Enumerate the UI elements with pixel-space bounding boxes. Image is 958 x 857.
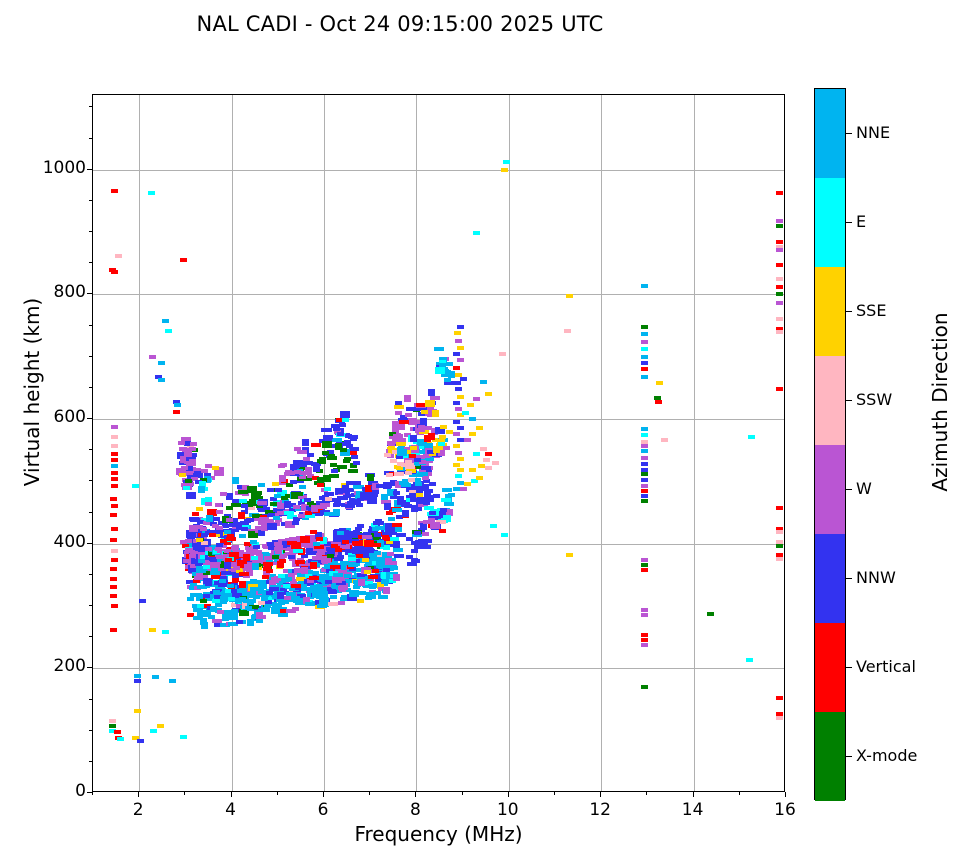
scatter-point <box>641 568 648 572</box>
scatter-point <box>457 457 464 461</box>
scatter-point <box>182 448 192 452</box>
scatter-point <box>157 724 164 728</box>
scatter-point <box>215 503 222 507</box>
scatter-point <box>503 160 510 164</box>
scatter-point <box>471 479 478 483</box>
scatter-point <box>183 486 190 490</box>
scatter-point <box>293 505 300 509</box>
scatter-point <box>110 513 117 517</box>
scatter-point <box>776 240 783 244</box>
scatter-point <box>327 554 334 558</box>
scatter-point <box>387 552 394 556</box>
scatter-point <box>339 423 346 427</box>
scatter-point <box>316 537 323 541</box>
plot-area <box>92 94 785 792</box>
scatter-point <box>228 597 235 601</box>
scatter-point <box>196 538 203 542</box>
scatter-point <box>117 737 124 741</box>
scatter-point <box>249 599 256 603</box>
scatter-point <box>205 547 212 551</box>
scatter-point <box>473 231 480 235</box>
scatter-point <box>776 219 783 223</box>
colorbar-tick <box>846 311 852 312</box>
scatter-point <box>641 444 648 448</box>
scatter-point <box>429 482 436 486</box>
scatter-point <box>485 466 492 470</box>
colorbar-tick <box>846 667 852 668</box>
x-tick-label: 14 <box>663 800 723 820</box>
scatter-point <box>321 428 328 432</box>
y-tick-label: 0 <box>26 781 86 801</box>
scatter-point <box>252 491 262 495</box>
scatter-point <box>178 441 185 445</box>
scatter-point <box>393 548 403 552</box>
scatter-point <box>267 488 274 492</box>
scatter-point <box>381 580 388 584</box>
scatter-point <box>206 515 213 522</box>
scatter-point <box>377 521 384 525</box>
scatter-point <box>134 709 141 713</box>
scatter-point <box>322 441 332 448</box>
scatter-point <box>291 492 298 499</box>
scatter-point <box>453 401 460 405</box>
scatter-point <box>501 168 508 172</box>
scatter-point <box>330 595 337 599</box>
x-tick-mark <box>92 792 93 795</box>
scatter-point <box>469 417 476 421</box>
scatter-point <box>310 530 317 534</box>
x-tick-label: 16 <box>755 800 815 820</box>
scatter-point <box>776 292 783 296</box>
y-tick-mark <box>89 387 92 388</box>
scatter-point <box>641 375 648 379</box>
scatter-point <box>485 392 492 396</box>
scatter-point <box>241 504 248 508</box>
colorbar-label-ssw: SSW <box>856 390 892 409</box>
scatter-point <box>250 540 257 544</box>
scatter-point <box>249 551 259 555</box>
scatter-point <box>232 477 239 484</box>
scatter-point <box>225 558 232 562</box>
scatter-point <box>342 418 349 422</box>
scatter-point <box>250 579 257 583</box>
colorbar-segment-nne <box>815 89 845 178</box>
scatter-point <box>421 466 431 470</box>
scatter-point <box>137 739 144 743</box>
scatter-point <box>325 492 332 496</box>
scatter-point <box>304 498 311 502</box>
x-tick-mark <box>277 792 278 795</box>
scatter-point <box>397 449 407 456</box>
scatter-point <box>641 340 648 344</box>
colorbar-tick <box>846 489 852 490</box>
scatter-point <box>258 483 265 487</box>
scatter-point <box>483 458 490 462</box>
scatter-point <box>252 563 259 570</box>
scatter-point <box>232 578 239 582</box>
scatter-point <box>453 420 460 424</box>
scatter-point <box>299 485 306 489</box>
scatter-point <box>412 507 422 511</box>
scatter-point <box>272 555 279 559</box>
scatter-point <box>158 361 165 365</box>
scatter-point <box>368 575 378 579</box>
x-tick-label: 4 <box>201 800 261 820</box>
scatter-point <box>300 536 310 543</box>
scatter-point <box>362 558 369 562</box>
scatter-point <box>180 735 187 739</box>
scatter-point <box>362 535 372 539</box>
colorbar-segment-sse <box>815 267 845 356</box>
scatter-point <box>181 466 188 470</box>
scatter-point <box>467 403 474 407</box>
scatter-point <box>490 524 497 528</box>
scatter-point <box>372 569 379 573</box>
scatter-point <box>330 565 340 569</box>
scatter-point <box>333 573 343 577</box>
scatter-point <box>383 537 390 541</box>
scatter-point <box>641 456 648 460</box>
scatter-point <box>352 547 362 554</box>
scatter-point <box>386 473 393 477</box>
scatter-point <box>158 378 165 382</box>
scatter-point <box>267 523 277 530</box>
scatter-point <box>414 531 421 535</box>
scatter-point <box>641 347 648 351</box>
scatter-point <box>283 584 290 588</box>
scatter-point <box>656 381 663 385</box>
scatter-point <box>322 451 329 455</box>
scatter-point <box>291 584 301 588</box>
scatter-point <box>111 425 118 429</box>
scatter-point <box>220 596 227 600</box>
scatter-point <box>239 572 249 576</box>
scatter-point <box>455 407 462 411</box>
scatter-point <box>416 473 423 477</box>
scatter-point <box>469 468 476 472</box>
colorbar-label-w: W <box>856 479 872 498</box>
scatter-point <box>455 387 462 391</box>
scatter-point <box>460 487 467 491</box>
scatter-point <box>111 471 118 475</box>
scatter-point <box>331 469 338 473</box>
scatter-point <box>215 555 222 559</box>
scatter-point <box>293 549 303 553</box>
scatter-point <box>746 658 753 662</box>
scatter-point <box>394 554 404 558</box>
y-tick-label: 200 <box>26 656 86 676</box>
scatter-point <box>417 497 424 504</box>
scatter-point <box>641 361 648 365</box>
scatter-point <box>368 584 378 588</box>
scatter-point <box>776 248 783 252</box>
scatter-point <box>641 484 648 488</box>
scatter-point <box>111 558 118 562</box>
scatter-point <box>428 389 435 396</box>
colorbar-segment-x-mode <box>815 712 845 801</box>
colorbar-segment-ssw <box>815 356 845 445</box>
scatter-point <box>440 508 447 512</box>
scatter-point <box>776 301 783 305</box>
scatter-point <box>345 579 352 583</box>
scatter-point <box>453 444 460 448</box>
scatter-point <box>348 469 358 473</box>
y-tick-mark <box>87 169 92 170</box>
ionogram-figure: NAL CADI - Oct 24 09:15:00 2025 UTC 2468… <box>0 0 958 857</box>
colorbar-tick <box>846 400 852 401</box>
scatter-point <box>566 294 573 298</box>
scatter-point <box>641 489 648 493</box>
scatter-point <box>210 606 217 610</box>
scatter-point <box>109 268 116 272</box>
scatter-point <box>345 504 355 508</box>
y-tick-mark <box>87 543 92 544</box>
scatter-point <box>174 403 181 407</box>
scatter-point <box>415 482 422 486</box>
scatter-point <box>371 543 381 547</box>
scatter-point <box>179 473 186 477</box>
scatter-point <box>480 380 487 384</box>
scatter-point <box>211 568 218 572</box>
scatter-point <box>338 496 348 500</box>
x-tick-label: 8 <box>385 800 445 820</box>
y-tick-mark <box>89 605 92 606</box>
scatter-point <box>433 446 440 453</box>
colorbar-label-e: E <box>856 212 866 231</box>
scatter-point <box>340 448 347 452</box>
scatter-point <box>776 716 783 720</box>
scatter-point <box>228 612 235 619</box>
scatter-point <box>457 481 464 485</box>
scatter-point <box>408 478 415 482</box>
scatter-point <box>442 488 452 492</box>
scatter-point <box>219 579 226 583</box>
scatter-point <box>110 577 117 581</box>
scatter-point <box>385 558 392 562</box>
scatter-point <box>310 562 317 569</box>
y-tick-mark <box>89 761 92 762</box>
scatter-point <box>455 339 462 343</box>
scatter-point <box>270 502 277 506</box>
y-tick-mark <box>89 356 92 357</box>
scatter-point <box>464 438 471 442</box>
colorbar-label-x-mode: X-mode <box>856 746 917 765</box>
scatter-point <box>641 284 648 288</box>
scatter-point <box>641 355 648 359</box>
scatter-point <box>313 465 320 472</box>
scatter-point <box>344 440 351 444</box>
scatter-point <box>279 475 286 482</box>
scatter-point <box>209 533 216 537</box>
scatter-point <box>393 574 400 581</box>
scatter-point <box>776 191 783 195</box>
scatter-point <box>395 411 402 415</box>
scatter-point <box>367 497 377 504</box>
scatter-point <box>109 724 116 728</box>
scatter-point <box>262 575 269 579</box>
scatter-point <box>485 452 492 456</box>
x-tick-mark <box>508 792 509 797</box>
scatter-point <box>354 481 361 485</box>
scatter-point <box>294 447 301 451</box>
scatter-point <box>411 549 418 553</box>
scatter-point <box>109 719 116 723</box>
colorbar <box>814 88 846 800</box>
scatter-point <box>776 506 783 510</box>
scatter-point <box>333 509 340 516</box>
scatter-point <box>198 486 205 493</box>
scatter-point <box>410 435 417 442</box>
scatter-point <box>314 545 324 549</box>
scatter-point <box>110 567 117 571</box>
scatter-point <box>453 487 460 491</box>
x-tick-mark <box>554 792 555 795</box>
y-tick-mark <box>89 325 92 326</box>
scatter-point <box>457 468 464 472</box>
y-tick-mark <box>89 730 92 731</box>
scatter-point <box>278 574 285 578</box>
scatter-point <box>200 527 207 531</box>
scatter-point <box>776 317 783 321</box>
scatter-point <box>333 424 340 428</box>
colorbar-tick <box>846 756 852 757</box>
y-tick-mark <box>89 262 92 263</box>
scatter-point <box>278 464 285 468</box>
scatter-point <box>187 535 194 539</box>
scatter-point <box>162 630 169 634</box>
scatter-point <box>453 432 460 436</box>
scatter-point <box>453 463 460 467</box>
colorbar-label-nne: NNE <box>856 123 890 142</box>
scatter-point <box>388 566 398 570</box>
scatter-point <box>641 427 648 431</box>
scatter-point <box>641 499 648 503</box>
scatter-point <box>198 559 205 563</box>
scatter-point <box>402 510 409 517</box>
scatter-point <box>457 325 464 329</box>
scatter-point <box>641 440 648 444</box>
scatter-point <box>187 597 194 601</box>
scatter-point <box>564 329 571 333</box>
scatter-point <box>342 540 349 544</box>
scatter-point <box>257 501 267 505</box>
y-tick-mark <box>87 792 92 793</box>
scatter-point <box>776 224 783 228</box>
scatter-point <box>641 367 648 371</box>
scatter-point <box>455 451 462 455</box>
scatter-point <box>430 522 440 529</box>
x-tick-mark <box>415 792 416 797</box>
scatter-point <box>220 492 227 496</box>
colorbar-label-sse: SSE <box>856 301 886 320</box>
scatter-point <box>208 615 215 619</box>
scatter-point <box>392 508 402 512</box>
scatter-point <box>410 446 417 450</box>
x-tick-mark <box>231 792 232 797</box>
x-tick-mark <box>693 792 694 797</box>
scatter-point <box>367 474 374 481</box>
scatter-point <box>358 579 365 586</box>
scatter-point <box>253 545 260 549</box>
scatter-point <box>383 568 390 572</box>
y-tick-mark <box>89 138 92 139</box>
y-tick-mark <box>87 667 92 668</box>
scatter-point <box>201 622 208 629</box>
x-tick-mark <box>138 792 139 797</box>
scatter-point <box>383 587 390 594</box>
scatter-point <box>245 606 252 610</box>
scatter-point <box>203 594 210 598</box>
scatter-point <box>332 576 342 583</box>
scatter-point <box>251 556 258 560</box>
scatter-point <box>284 511 294 515</box>
scatter-point <box>438 442 445 446</box>
scatter-point <box>641 494 648 498</box>
scatter-point <box>222 524 229 528</box>
y-tick-mark <box>89 480 92 481</box>
scatter-point <box>198 545 205 552</box>
scatter-point <box>424 506 434 510</box>
x-tick-label: 12 <box>570 800 630 820</box>
scatter-point <box>317 459 324 463</box>
scatter-point <box>111 464 118 468</box>
scatter-point <box>132 484 139 488</box>
scatter-point <box>324 487 331 491</box>
scatter-point <box>331 544 338 548</box>
scatter-point <box>114 730 121 734</box>
scatter-point <box>317 483 324 487</box>
scatter-point <box>201 533 208 537</box>
scatter-point <box>641 332 648 336</box>
scatter-point <box>399 420 409 424</box>
scatter-point <box>111 444 118 448</box>
scatter-point <box>425 426 432 430</box>
scatter-point <box>641 633 648 637</box>
scatter-point <box>238 512 245 519</box>
scatter-point <box>351 455 358 459</box>
scatter-point <box>776 330 783 334</box>
x-tick-mark <box>739 792 740 795</box>
scatter-point <box>460 377 467 381</box>
scatter-point <box>189 525 196 532</box>
scatter-point <box>404 395 411 402</box>
y-tick-mark <box>89 449 92 450</box>
scatter-point <box>428 433 435 440</box>
scatter-point <box>432 410 439 417</box>
scatter-point <box>392 421 399 428</box>
y-tick-mark <box>89 699 92 700</box>
scatter-point <box>384 453 391 457</box>
scatter-point <box>111 527 118 531</box>
scatter-point <box>374 533 381 537</box>
scatter-point <box>150 729 157 733</box>
scatter-point <box>285 470 292 474</box>
scatter-point <box>393 491 400 495</box>
scatter-point <box>285 577 292 581</box>
scatter-point <box>406 407 416 411</box>
scatter-point <box>776 530 783 534</box>
scatter-point <box>226 518 233 522</box>
scatter-point <box>110 585 117 589</box>
scatter-point <box>356 503 363 507</box>
scatter-point <box>212 466 219 470</box>
scatter-point <box>422 532 429 536</box>
scatter-point <box>149 355 156 359</box>
scatter-point <box>275 488 282 492</box>
scatter-point <box>332 438 342 442</box>
scatter-point <box>196 573 203 577</box>
scatter-point <box>388 517 395 521</box>
